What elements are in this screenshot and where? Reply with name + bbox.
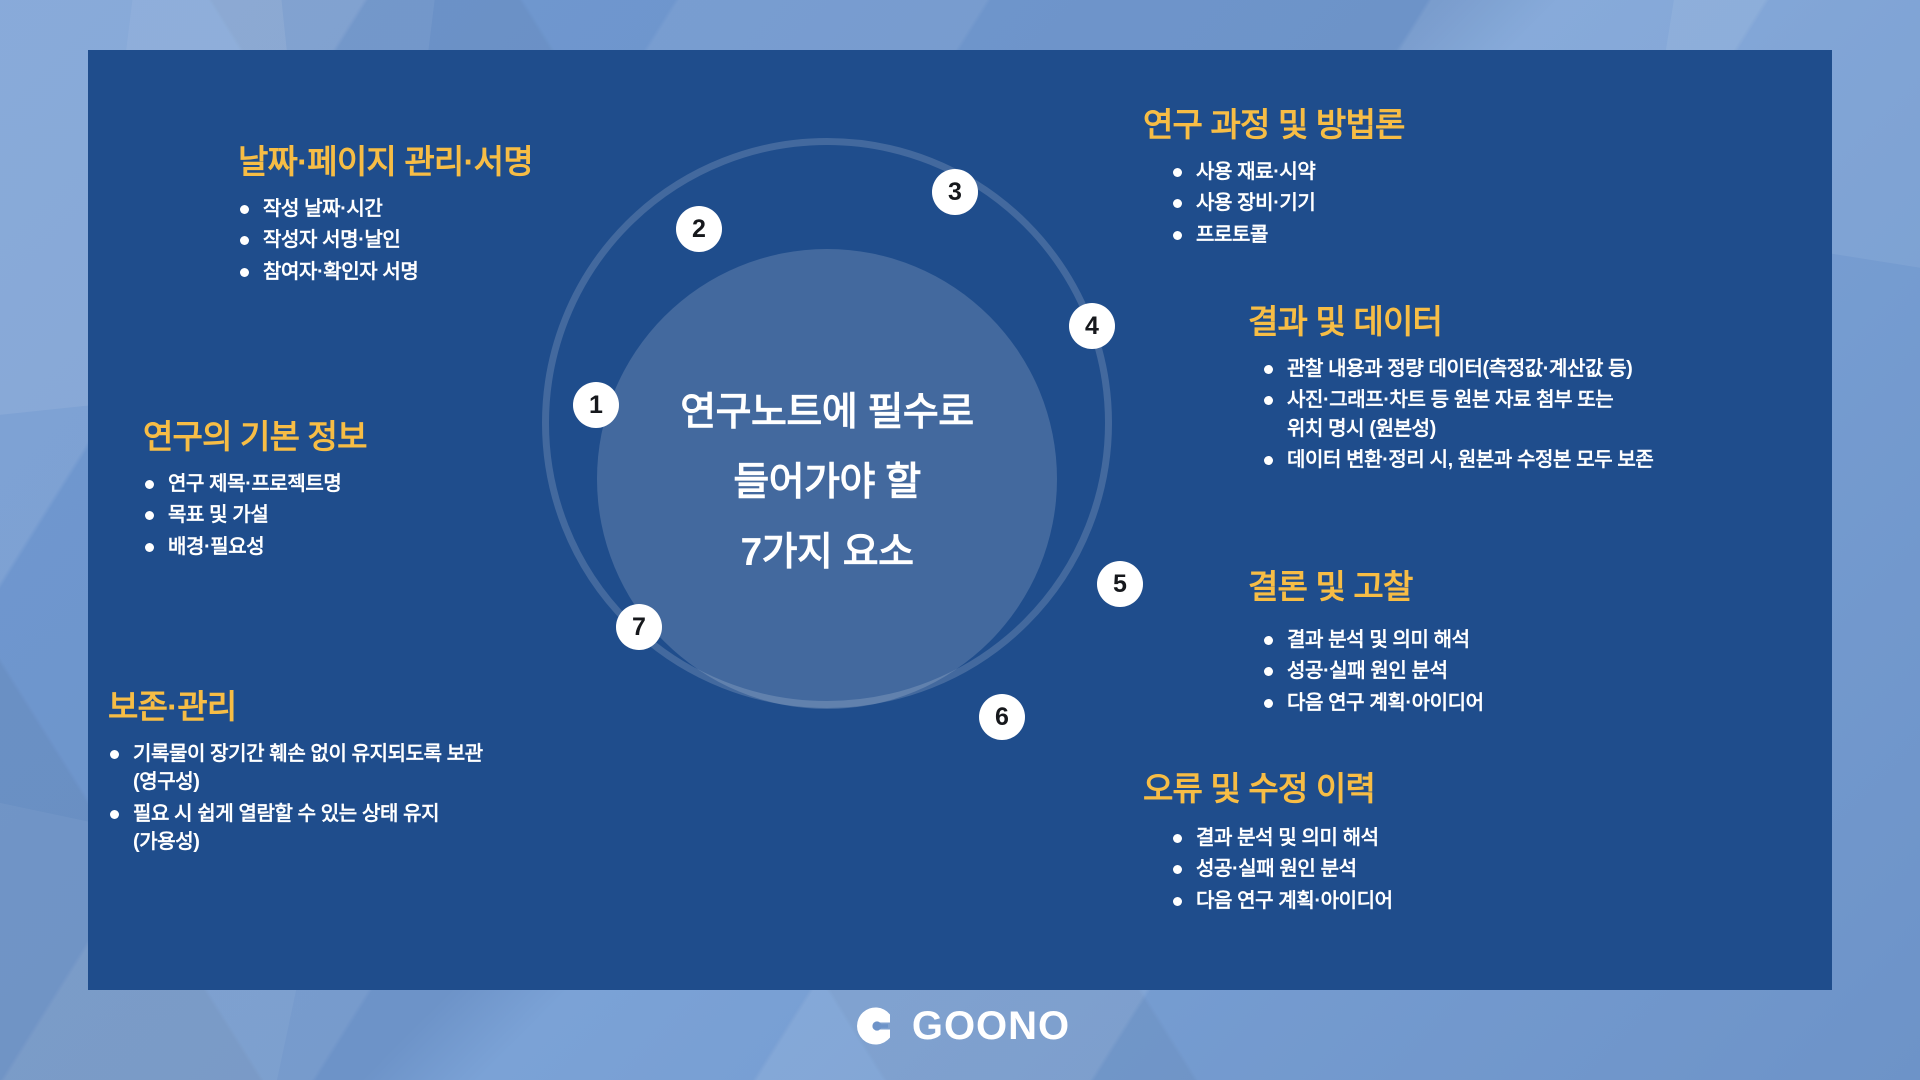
list-item-text: 배경·필요성 <box>168 536 264 558</box>
goono-logo-icon <box>850 1000 902 1052</box>
section-conclusion-discussion: 결론 및 고찰 결과 분석 및 의미 해석 성공·실패 원인 분석 다음 연구 … <box>1248 560 1484 720</box>
section-process-methodology: 연구 과정 및 방법론 사용 재료·시약 사용 장비·기기 프로토콜 <box>1143 98 1405 252</box>
section-title: 결론 및 고찰 <box>1248 560 1484 608</box>
section-bullet-list: 결과 분석 및 의미 해석 성공·실패 원인 분석 다음 연구 계획·아이디어 <box>1248 626 1484 717</box>
section-title: 오류 및 수정 이력 <box>1143 762 1393 810</box>
list-item-text: 다음 연구 계획·아이디어 <box>1196 890 1393 912</box>
list-item-text: 참여자·확인자 서명 <box>263 261 418 283</box>
section-title: 결과 및 데이터 <box>1248 295 1653 343</box>
section-title: 날짜·페이지 관리·서명 <box>238 135 533 183</box>
section-results-data: 결과 및 데이터 관찰 내용과 정량 데이터(측정값·계산값 등) 사진·그래프… <box>1248 295 1653 478</box>
list-item: 관찰 내용과 정량 데이터(측정값·계산값 등) <box>1262 355 1653 383</box>
section-basic-info: 연구의 기본 정보 연구 제목·프로젝트명 목표 및 가설 배경·필요성 <box>143 410 367 564</box>
list-item-continuation: 위치 명시 (원본성) <box>1287 415 1653 443</box>
list-item-text: 성공·실패 원인 분석 <box>1196 858 1357 880</box>
section-bullet-list: 작성 날짜·시간 작성자 서명·날인 참여자·확인자 서명 <box>238 195 533 286</box>
badge-number-1[interactable]: 1 <box>573 382 619 428</box>
badge-number-4[interactable]: 4 <box>1069 303 1115 349</box>
list-item: 다음 연구 계획·아이디어 <box>1262 689 1484 717</box>
list-item-text: 목표 및 가설 <box>168 504 268 526</box>
list-item-text: 사용 장비·기기 <box>1196 192 1315 214</box>
section-bullet-list: 결과 분석 및 의미 해석 성공·실패 원인 분석 다음 연구 계획·아이디어 <box>1143 824 1393 915</box>
list-item: 데이터 변환·정리 시, 원본과 수정본 모두 보존 <box>1262 446 1653 474</box>
list-item: 배경·필요성 <box>143 533 367 561</box>
section-bullet-list: 기록물이 장기간 훼손 없이 유지되도록 보관 (영구성) 필요 시 쉽게 열람… <box>108 740 483 857</box>
infographic-slide: 연구노트에 필수로 들어가야 할 7가지 요소 1 2 3 4 5 6 7 날짜… <box>0 0 1920 1080</box>
list-item: 사진·그래프·차트 등 원본 자료 첨부 또는 위치 명시 (원본성) <box>1262 386 1653 443</box>
list-item: 작성 날짜·시간 <box>238 195 533 223</box>
badge-number-5[interactable]: 5 <box>1097 561 1143 607</box>
center-title-line-3: 7가지 요소 <box>740 521 913 577</box>
section-bullet-list: 관찰 내용과 정량 데이터(측정값·계산값 등) 사진·그래프·차트 등 원본 … <box>1248 355 1653 475</box>
list-item-continuation: (영구성) <box>133 768 483 796</box>
list-item-text: 작성 날짜·시간 <box>263 198 382 220</box>
content-panel: 연구노트에 필수로 들어가야 할 7가지 요소 1 2 3 4 5 6 7 날짜… <box>88 50 1832 990</box>
brand-name: GOONO <box>912 1004 1070 1049</box>
section-error-revision-history: 오류 및 수정 이력 결과 분석 및 의미 해석 성공·실패 원인 분석 다음 … <box>1143 762 1393 918</box>
badge-number-7[interactable]: 7 <box>616 604 662 650</box>
badge-number-6[interactable]: 6 <box>979 694 1025 740</box>
list-item-text: 성공·실패 원인 분석 <box>1287 660 1448 682</box>
list-item: 성공·실패 원인 분석 <box>1171 855 1393 883</box>
list-item-text: 결과 분석 및 의미 해석 <box>1196 827 1379 849</box>
list-item: 참여자·확인자 서명 <box>238 258 533 286</box>
section-bullet-list: 사용 재료·시약 사용 장비·기기 프로토콜 <box>1143 158 1405 249</box>
badge-number-2[interactable]: 2 <box>676 206 722 252</box>
list-item-text: 관찰 내용과 정량 데이터(측정값·계산값 등) <box>1287 358 1632 380</box>
center-title-line-1: 연구노트에 필수로 <box>680 381 973 437</box>
list-item: 프로토콜 <box>1171 221 1405 249</box>
list-item-text: 다음 연구 계획·아이디어 <box>1287 692 1484 714</box>
badge-number-3[interactable]: 3 <box>932 169 978 215</box>
list-item-text: 작성자 서명·날인 <box>263 229 400 251</box>
list-item: 사용 장비·기기 <box>1171 189 1405 217</box>
list-item: 결과 분석 및 의미 해석 <box>1171 824 1393 852</box>
list-item: 연구 제목·프로젝트명 <box>143 470 367 498</box>
list-item: 목표 및 가설 <box>143 501 367 529</box>
list-item: 결과 분석 및 의미 해석 <box>1262 626 1484 654</box>
section-bullet-list: 연구 제목·프로젝트명 목표 및 가설 배경·필요성 <box>143 470 367 561</box>
section-title: 연구의 기본 정보 <box>143 410 367 458</box>
list-item-text: 필요 시 쉽게 열람할 수 있는 상태 유지 <box>133 803 439 825</box>
list-item-text: 연구 제목·프로젝트명 <box>168 473 341 495</box>
list-item-text: 기록물이 장기간 훼손 없이 유지되도록 보관 <box>133 743 483 765</box>
section-title: 연구 과정 및 방법론 <box>1143 98 1405 146</box>
list-item: 필요 시 쉽게 열람할 수 있는 상태 유지 (가용성) <box>108 800 483 857</box>
list-item-text: 데이터 변환·정리 시, 원본과 수정본 모두 보존 <box>1287 449 1653 471</box>
section-title: 보존·관리 <box>108 680 483 728</box>
list-item-text: 사용 재료·시약 <box>1196 161 1315 183</box>
list-item: 작성자 서명·날인 <box>238 226 533 254</box>
center-title-line-2: 들어가야 할 <box>733 451 920 507</box>
list-item-text: 사진·그래프·차트 등 원본 자료 첨부 또는 <box>1287 389 1613 411</box>
list-item: 기록물이 장기간 훼손 없이 유지되도록 보관 (영구성) <box>108 740 483 797</box>
list-item: 사용 재료·시약 <box>1171 158 1405 186</box>
section-preservation-management: 보존·관리 기록물이 장기간 훼손 없이 유지되도록 보관 (영구성) 필요 시… <box>108 680 483 860</box>
footer-branding: GOONO <box>0 1000 1920 1052</box>
list-item-text: 프로토콜 <box>1196 224 1268 246</box>
center-title: 연구노트에 필수로 들어가야 할 7가지 요소 <box>597 249 1057 709</box>
list-item: 다음 연구 계획·아이디어 <box>1171 887 1393 915</box>
list-item-continuation: (가용성) <box>133 828 483 856</box>
list-item: 성공·실패 원인 분석 <box>1262 657 1484 685</box>
list-item-text: 결과 분석 및 의미 해석 <box>1287 629 1470 651</box>
section-date-page-signature: 날짜·페이지 관리·서명 작성 날짜·시간 작성자 서명·날인 참여자·확인자 … <box>238 135 533 289</box>
